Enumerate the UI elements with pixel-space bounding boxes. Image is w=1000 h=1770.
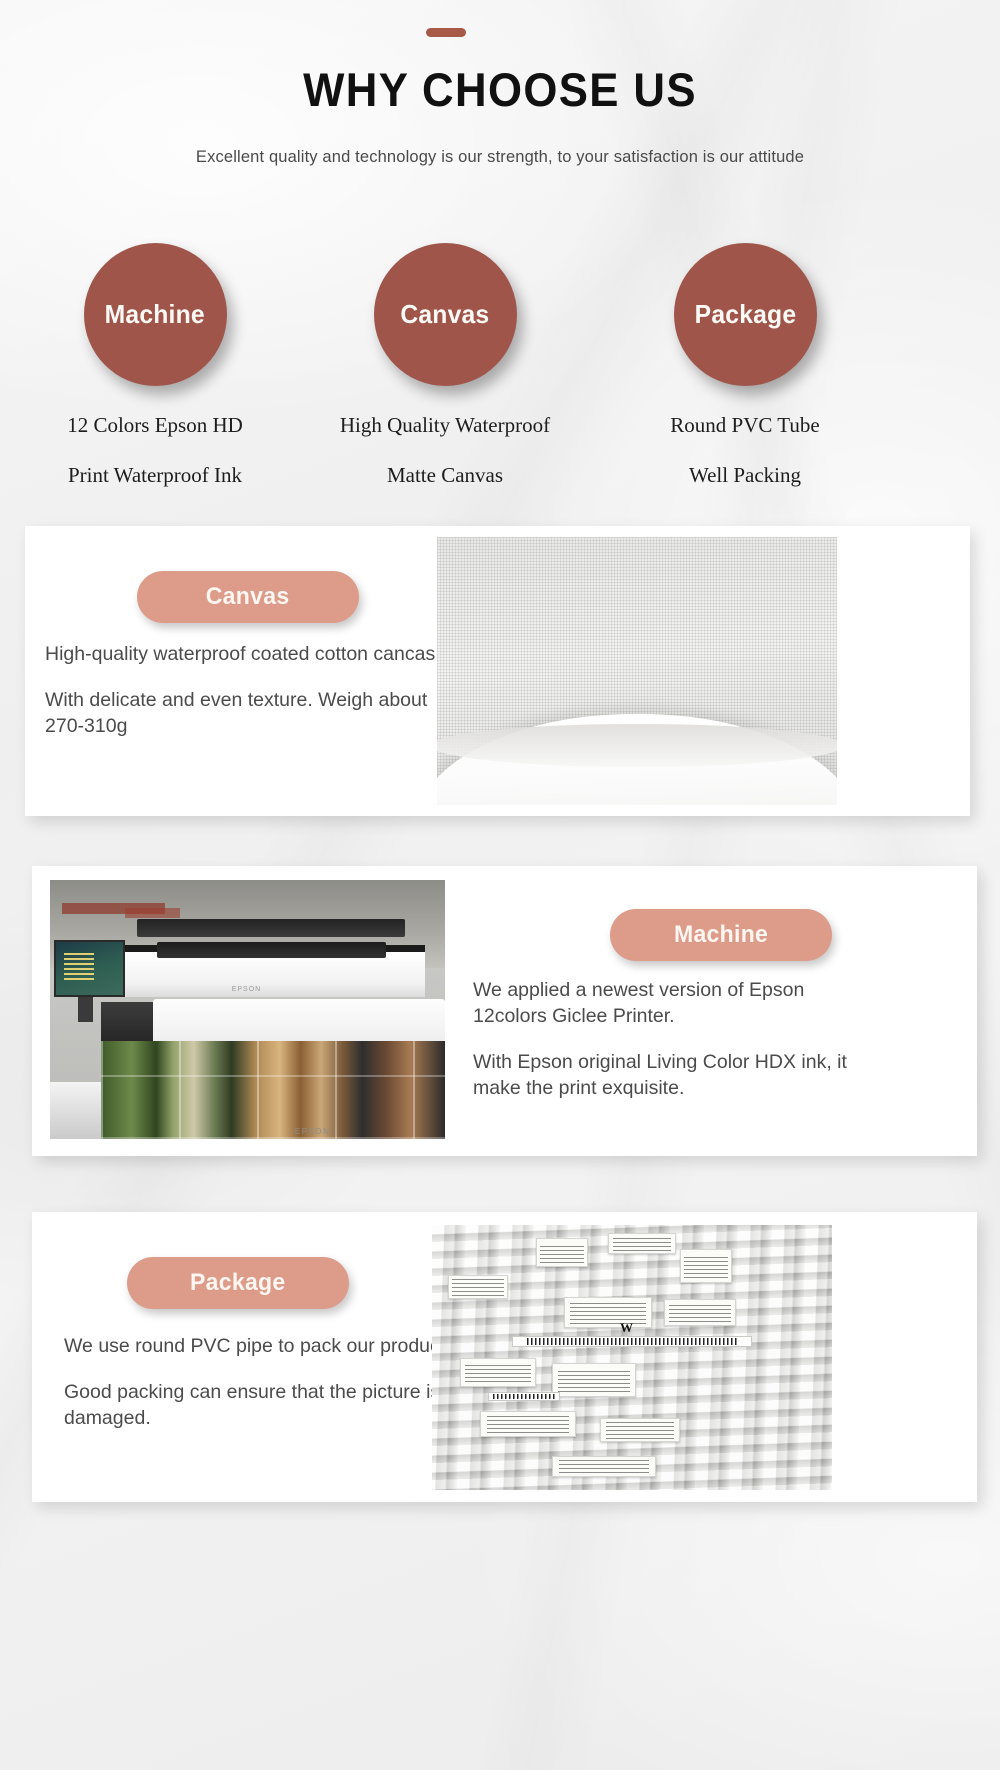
- highlight-caption-line1: High Quality Waterproof: [295, 411, 595, 439]
- highlight-caption-line2: Well Packing: [595, 461, 895, 489]
- page-title: WHY CHOOSE US: [35, 62, 965, 117]
- card-body-text: We use round PVC pipe to pack our produc…: [64, 1334, 484, 1432]
- shipping-label: [480, 1411, 576, 1438]
- shipping-label: [664, 1299, 736, 1326]
- highlight-package[interactable]: Package Round PVC Tube Well Packing: [595, 243, 895, 490]
- shipping-label: [564, 1297, 652, 1329]
- shipping-label: [552, 1363, 636, 1397]
- highlight-caption: High Quality Waterproof Matte Canvas: [295, 411, 595, 490]
- card-paragraph: High-quality waterproof coated cotton ca…: [45, 642, 445, 668]
- barcode-strip: [512, 1336, 752, 1347]
- printer-monitor: [54, 940, 125, 997]
- barcode-strip: [488, 1392, 560, 1401]
- printed-canvas-output: [101, 1041, 445, 1139]
- shipping-label: [600, 1418, 680, 1442]
- canvas-fabric-photo: [437, 537, 837, 805]
- highlight-caption-line1: 12 Colors Epson HD: [5, 411, 305, 439]
- card-pill-label: Package: [190, 1269, 286, 1297]
- printer-brand-mark: EPSON: [295, 1127, 331, 1136]
- page-root: WHY CHOOSE US Excellent quality and tech…: [0, 0, 1000, 1770]
- printer-brand-mark: EPSON: [232, 986, 262, 993]
- highlight-caption-line2: Print Waterproof Ink: [5, 461, 305, 489]
- pvc-tube-package-photo: W: [432, 1225, 832, 1490]
- highlight-circle-label: Canvas: [400, 299, 489, 330]
- package-mark: W: [620, 1320, 633, 1336]
- card-pill-badge[interactable]: Canvas: [137, 571, 359, 623]
- page-subtitle: Excellent quality and technology is our …: [0, 148, 1000, 167]
- highlight-caption-line1: Round PVC Tube: [595, 411, 895, 439]
- card-paragraph: We use round PVC pipe to pack our produc…: [64, 1334, 484, 1360]
- highlight-circle-label: Package: [694, 299, 796, 330]
- feature-card-canvas: Canvas High-quality waterproof coated co…: [25, 526, 970, 816]
- highlight-caption-line2: Matte Canvas: [295, 461, 595, 489]
- highlight-circle[interactable]: Canvas: [374, 243, 517, 386]
- card-body-text: We applied a newest version of Epson 12c…: [473, 978, 863, 1102]
- highlight-machine[interactable]: Machine 12 Colors Epson HD Print Waterpr…: [5, 243, 305, 490]
- shipping-label: [448, 1275, 508, 1299]
- card-pill-label: Machine: [674, 921, 768, 949]
- printer-front-panel: [50, 1082, 101, 1139]
- feature-card-package: Package We use round PVC pipe to pack ou…: [32, 1212, 977, 1502]
- highlight-circle-label: Machine: [105, 299, 205, 330]
- highlight-caption: 12 Colors Epson HD Print Waterproof Ink: [5, 411, 305, 490]
- printer-rail: [137, 919, 406, 937]
- shipping-label: [680, 1249, 732, 1283]
- printer-shelf: [125, 908, 180, 917]
- card-pill-label: Canvas: [206, 583, 290, 611]
- shipping-label: [536, 1238, 588, 1267]
- shipping-label: [552, 1456, 656, 1477]
- printer-monitor-stand: [78, 997, 94, 1023]
- epson-printer-photo: EPSON EPSON: [50, 880, 445, 1139]
- top-divider-bar: [426, 28, 466, 37]
- shipping-label: [460, 1358, 536, 1387]
- feature-card-machine: EPSON EPSON Machine We applied a newest …: [32, 866, 977, 1156]
- canvas-roll-shape: [437, 714, 837, 805]
- card-paragraph: With Epson original Living Color HDX ink…: [473, 1050, 863, 1102]
- highlight-caption: Round PVC Tube Well Packing: [595, 411, 895, 490]
- card-pill-badge[interactable]: Package: [127, 1257, 349, 1309]
- highlight-circle[interactable]: Machine: [84, 243, 227, 386]
- highlights-row: Machine 12 Colors Epson HD Print Waterpr…: [0, 243, 1000, 503]
- card-paragraph: We applied a newest version of Epson 12c…: [473, 978, 863, 1030]
- card-body-text: High-quality waterproof coated cotton ca…: [45, 642, 445, 740]
- card-paragraph: With delicate and even texture. Weigh ab…: [45, 688, 445, 740]
- printer-rail: [157, 942, 386, 958]
- highlight-canvas[interactable]: Canvas High Quality Waterproof Matte Can…: [295, 243, 595, 490]
- card-paragraph: Good packing can ensure that the picture…: [64, 1380, 484, 1432]
- highlight-circle[interactable]: Package: [674, 243, 817, 386]
- card-pill-badge[interactable]: Machine: [610, 909, 832, 961]
- shipping-label: [608, 1233, 676, 1254]
